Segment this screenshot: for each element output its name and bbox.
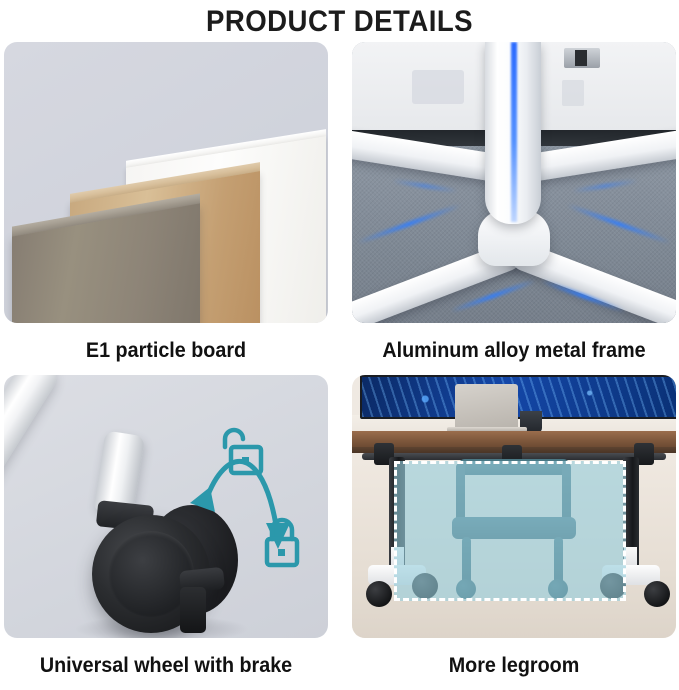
product-details-infographic: PRODUCT DETAILS E1 particle board [0, 0, 679, 673]
arrow-head-lock [266, 523, 290, 549]
desk-caster-4 [644, 581, 670, 607]
wall-reflection [412, 70, 464, 104]
caption-aluminum-alloy-metal-frame: Aluminum alloy metal frame [362, 323, 667, 375]
panel-grid: E1 particle board [4, 42, 675, 690]
page-title: PRODUCT DETAILS [27, 0, 652, 37]
cell-universal-wheel-with-brake: Universal wheel with brake [4, 375, 328, 690]
column-blue-highlight [511, 42, 517, 222]
unlock-keyhole [242, 457, 249, 464]
lock-keyhole [278, 549, 285, 556]
wall-reflection-secondary [562, 80, 584, 106]
wheel-annotations [4, 375, 328, 638]
caption-more-legroom: More legroom [362, 638, 667, 690]
cell-more-legroom: More legroom [352, 375, 676, 690]
monitor-screen [360, 375, 676, 419]
wall-device [564, 48, 600, 68]
frame-column [485, 42, 541, 224]
panel-e1-particle-board [4, 42, 328, 323]
desk-caster-1 [366, 581, 392, 607]
panel-universal-wheel-with-brake [4, 375, 328, 638]
panel-more-legroom [352, 375, 676, 638]
cell-e1-particle-board: E1 particle board [4, 42, 328, 375]
laptop [455, 384, 518, 428]
cell-aluminum-alloy-metal-frame: Aluminum alloy metal frame [352, 42, 676, 375]
caption-e1-particle-board: E1 particle board [14, 323, 319, 375]
caption-universal-wheel-with-brake: Universal wheel with brake [14, 638, 319, 690]
legroom-highlight-area [394, 461, 626, 601]
panel-aluminum-alloy-metal-frame [352, 42, 676, 323]
